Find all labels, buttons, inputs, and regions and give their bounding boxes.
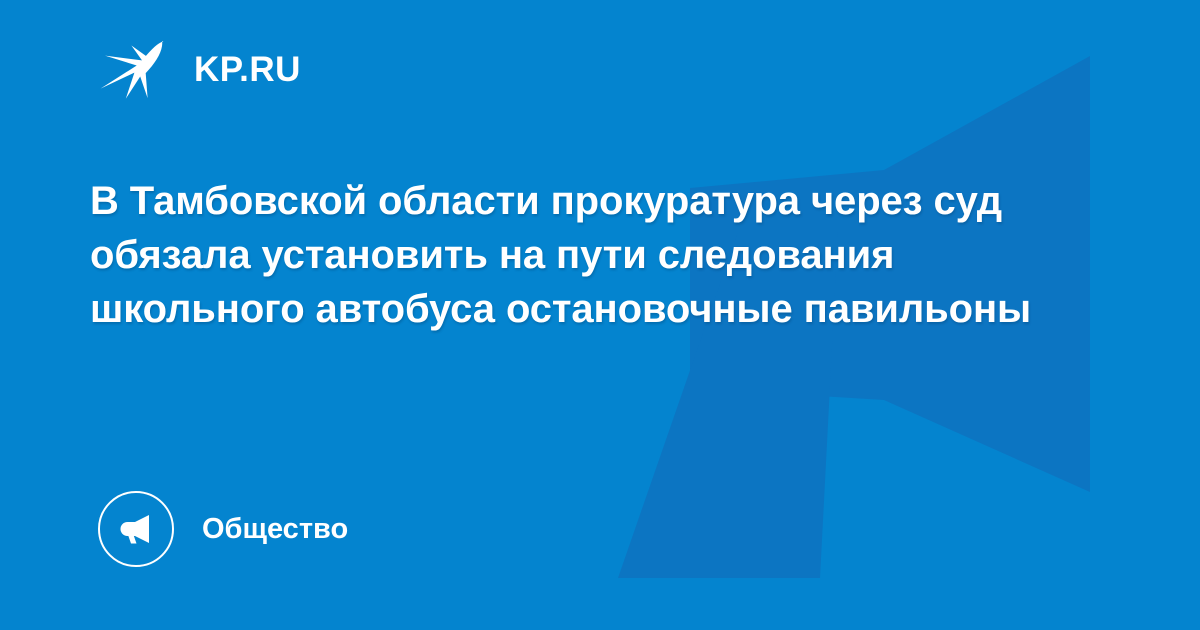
category-badge[interactable]: Общество: [98, 491, 348, 567]
category-label: Общество: [202, 515, 348, 544]
share-card: KP.RU В Тамбовской области прокуратура ч…: [0, 0, 1200, 630]
swallow-bird-icon: [100, 36, 172, 102]
brand-wordmark: KP.RU: [194, 52, 301, 87]
brand-header: KP.RU: [100, 34, 301, 104]
megaphone-icon: [98, 491, 174, 567]
page-title: В Тамбовской области прокуратура через с…: [90, 174, 1040, 336]
